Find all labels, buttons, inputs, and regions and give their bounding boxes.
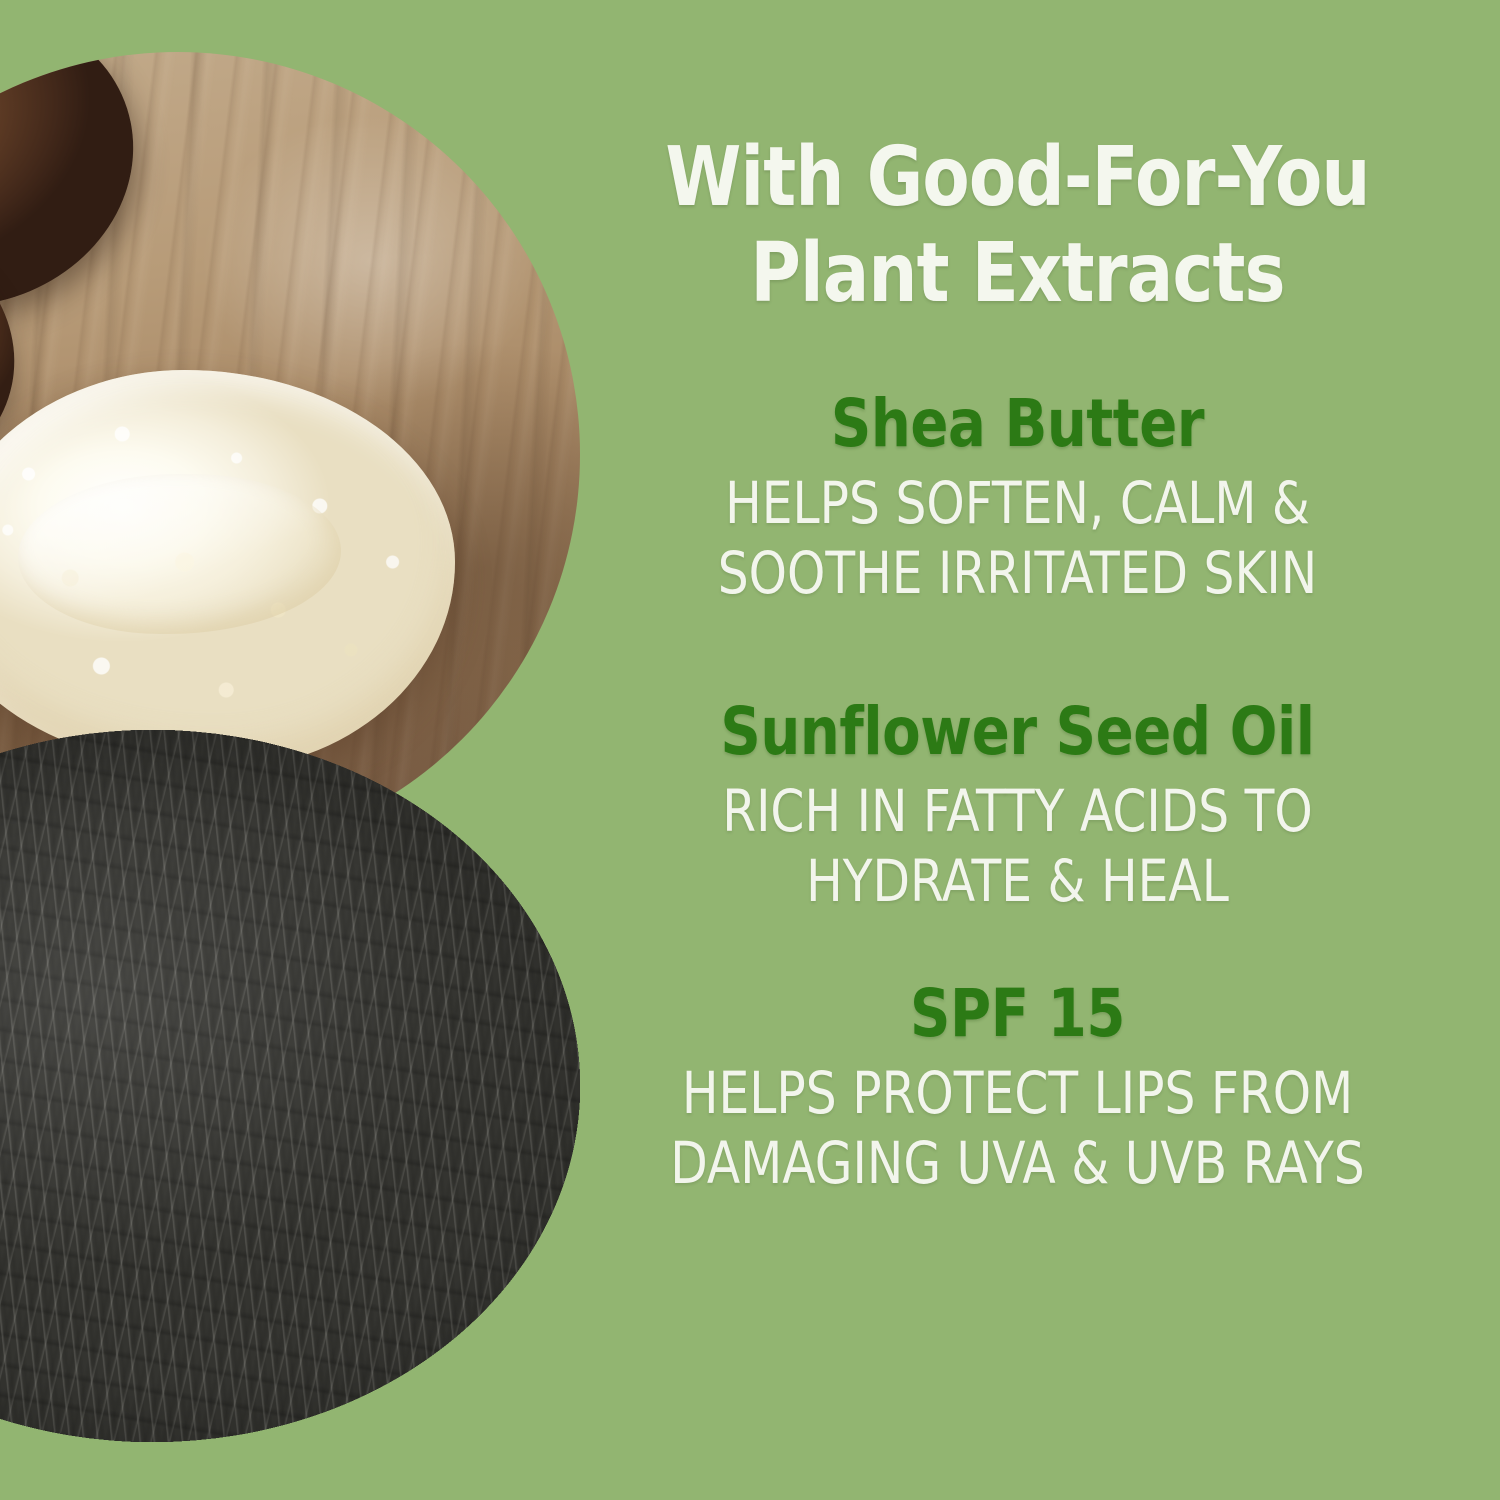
description-line-1: HELPS SOFTEN, CALM &	[654, 468, 1381, 538]
ingredient-block-shea-butter: Shea Butter HELPS SOFTEN, CALM & SOOTHE …	[585, 388, 1450, 608]
description-line-2: DAMAGING UVA & UVB RAYS	[654, 1128, 1381, 1198]
headline-line-1: With Good-For-You	[654, 130, 1381, 226]
page-title: With Good-For-You Plant Extracts	[654, 130, 1381, 322]
ingredient-name: SPF 15	[650, 978, 1385, 1050]
text-column: With Good-For-You Plant Extracts Shea Bu…	[585, 0, 1450, 1500]
headline-line-2: Plant Extracts	[654, 226, 1381, 322]
ingredient-block-spf-15: SPF 15 HELPS PROTECT LIPS FROM DAMAGING …	[585, 978, 1450, 1198]
ingredient-name: Shea Butter	[650, 388, 1385, 460]
description-line-2: HYDRATE & HEAL	[654, 846, 1381, 916]
ingredient-description: RICH IN FATTY ACIDS TO HYDRATE & HEAL	[654, 776, 1381, 916]
ingredient-block-sunflower-seed-oil: Sunflower Seed Oil RICH IN FATTY ACIDS T…	[585, 696, 1450, 916]
description-line-2: SOOTHE IRRITATED SKIN	[654, 538, 1381, 608]
ingredient-description: HELPS PROTECT LIPS FROM DAMAGING UVA & U…	[654, 1058, 1381, 1198]
description-line-1: RICH IN FATTY ACIDS TO	[654, 776, 1381, 846]
ingredient-name: Sunflower Seed Oil	[650, 696, 1385, 768]
seeds-vignette	[0, 730, 580, 1442]
ingredient-description: HELPS SOFTEN, CALM & SOOTHE IRRITATED SK…	[654, 468, 1381, 608]
product-benefits-infographic: With Good-For-You Plant Extracts Shea Bu…	[0, 0, 1500, 1500]
sunflower-seeds-photo	[0, 730, 580, 1442]
description-line-1: HELPS PROTECT LIPS FROM	[654, 1058, 1381, 1128]
